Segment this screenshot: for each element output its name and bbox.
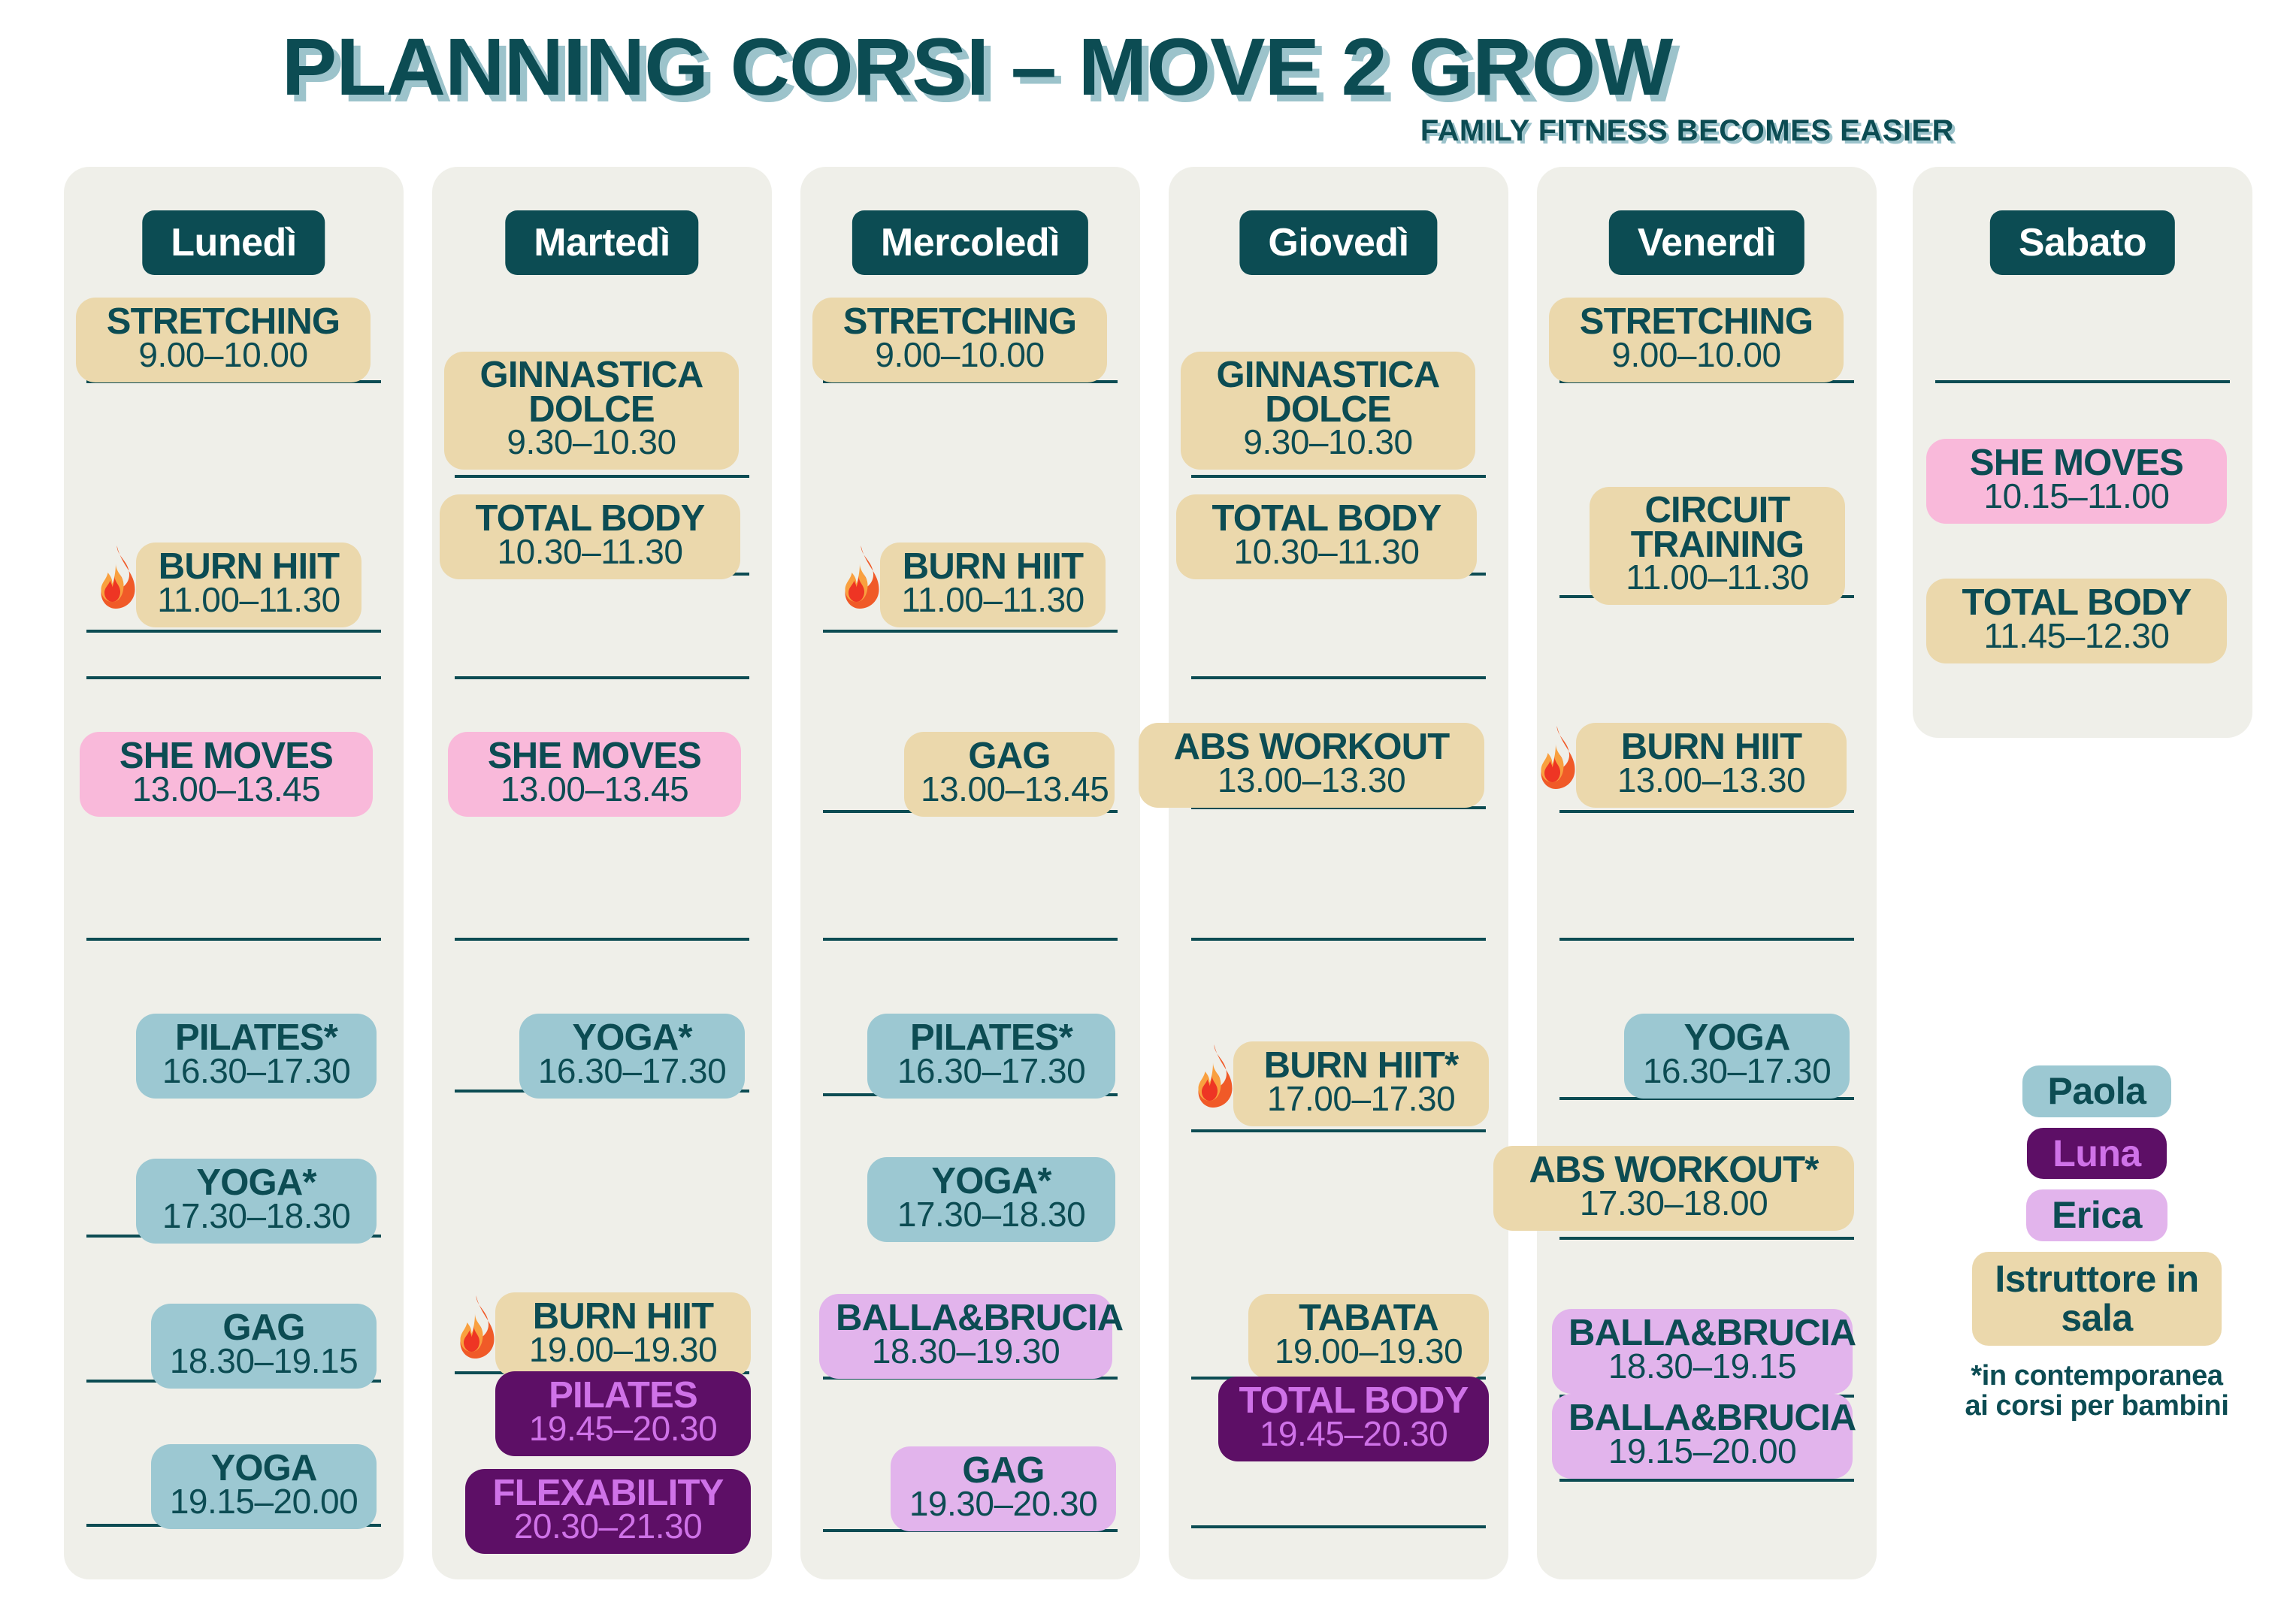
class-time: 13.00–13.45 [464,772,724,806]
class-name: CIRCUITTRAINING [1606,493,1829,562]
class-name: YOGA [168,1450,360,1486]
class-name: TOTAL BODY [1193,500,1460,536]
class-card[interactable]: STRETCHING9.00–10.00 [812,298,1107,382]
time-divider [1559,938,1854,941]
class-card[interactable]: PILATES19.45–20.30 [495,1371,751,1456]
class-name: GINNASTICADOLCE [461,358,722,427]
day-header-4[interactable]: Venerdì [1609,210,1804,275]
class-card[interactable]: SHE MOVES10.15–11.00 [1926,439,2227,524]
class-card[interactable]: STRETCHING9.00–10.00 [76,298,371,382]
class-name: YOGA* [153,1165,360,1201]
class-card[interactable]: TOTAL BODY11.45–12.30 [1926,579,2227,663]
flame-icon [1190,1044,1236,1108]
class-time: 17.30–18.00 [1510,1186,1838,1220]
class-time: 11.00–11.30 [1606,561,1829,594]
class-name: STRETCHING [92,304,354,340]
class-time: 17.30–18.30 [153,1199,360,1233]
flame-icon [92,546,139,609]
class-time: 10.15–11.00 [1943,479,2210,513]
class-card[interactable]: PILATES*16.30–17.30 [136,1014,377,1099]
day-header-0[interactable]: Lunedì [142,210,325,275]
class-name: SHE MOVES [464,738,724,774]
class-name: PILATES* [884,1020,1099,1056]
class-card[interactable]: BURN HIIT19.00–19.30 [495,1292,751,1377]
class-time: 10.30–11.30 [456,535,724,569]
class-card[interactable]: TOTAL BODY10.30–11.30 [1176,494,1477,579]
class-card[interactable]: ABS WORKOUT13.00–13.30 [1139,723,1484,808]
class-time: 19.15–20.00 [1568,1434,1836,1468]
legend-instructor-erica[interactable]: Erica [2026,1189,2167,1241]
day-header-3[interactable]: Giovedì [1239,210,1437,275]
time-divider [1191,1525,1486,1528]
class-name: BURN HIIT [1593,729,1830,765]
class-name: BALLA&BRUCIA [836,1300,1096,1336]
class-name: TABATA [1265,1300,1472,1336]
class-name: BALLA&BRUCIA [1568,1400,1836,1436]
class-card[interactable]: STRETCHING9.00–10.00 [1549,298,1844,382]
class-time: 11.45–12.30 [1943,619,2210,653]
time-divider [1559,810,1854,813]
class-name: ABS WORKOUT [1155,729,1468,765]
class-time: 9.00–10.00 [1565,338,1827,372]
class-time: 18.30–19.15 [1568,1349,1836,1383]
day-header-5[interactable]: Sabato [1990,210,2175,275]
class-card[interactable]: BURN HIIT13.00–13.30 [1576,723,1847,808]
class-name: TOTAL BODY [1235,1383,1472,1419]
class-time: 16.30–17.30 [153,1054,360,1088]
time-divider [823,938,1118,941]
class-card[interactable]: ABS WORKOUT*17.30–18.00 [1493,1146,1854,1231]
time-divider [86,676,381,679]
class-card[interactable]: GAG19.30–20.30 [891,1446,1116,1531]
time-divider [1191,1129,1486,1132]
class-card[interactable]: TOTAL BODY19.45–20.30 [1218,1377,1489,1461]
class-time: 20.30–21.30 [482,1510,734,1543]
class-time: 19.45–20.30 [512,1412,734,1446]
class-card[interactable]: GINNASTICADOLCE9.30–10.30 [444,352,739,470]
time-divider [86,630,381,633]
class-name: STRETCHING [829,304,1091,340]
class-time: 16.30–17.30 [536,1054,728,1088]
class-time: 13.00–13.30 [1593,763,1830,797]
flame-icon [836,546,883,609]
class-card[interactable]: YOGA*17.30–18.30 [136,1159,377,1244]
legend-room-instructor-line2: sala [2061,1297,2132,1339]
class-name: STRETCHING [1565,304,1827,340]
class-time: 19.15–20.00 [168,1485,360,1519]
legend-footnote-line1: *in contemporanea [1971,1360,2222,1392]
class-time: 16.30–17.30 [884,1054,1099,1088]
class-card[interactable]: PILATES*16.30–17.30 [867,1014,1115,1099]
class-name: GAG [907,1452,1100,1489]
class-name: YOGA [1641,1020,1833,1056]
class-name: SHE MOVES [96,738,356,774]
flame-icon [452,1295,498,1359]
class-card[interactable]: BURN HIIT*17.00–17.30 [1233,1041,1489,1126]
legend: Paola Luna Erica Istruttore insala *in c… [1920,1065,2273,1421]
class-card[interactable]: CIRCUITTRAINING11.00–11.30 [1590,487,1845,605]
class-card[interactable]: BALLA&BRUCIA18.30–19.15 [1552,1309,1853,1394]
time-divider [86,938,381,941]
class-time: 9.00–10.00 [829,338,1091,372]
time-divider [1191,676,1486,679]
class-time: 19.00–19.30 [512,1333,734,1367]
class-name: YOGA* [536,1020,728,1056]
class-time: 10.30–11.30 [1193,535,1460,569]
class-name: FLEXABILITY [482,1475,734,1511]
class-card[interactable]: YOGA*16.30–17.30 [519,1014,745,1099]
class-card[interactable]: YOGA19.15–20.00 [151,1444,377,1529]
time-divider [1559,1237,1854,1240]
flame-icon [1532,726,1579,789]
class-time: 19.45–20.30 [1235,1417,1472,1451]
legend-room-instructor-line1: Istruttore in [1995,1258,2198,1300]
legend-room-instructor[interactable]: Istruttore insala [1972,1252,2221,1346]
class-name: TOTAL BODY [456,500,724,536]
class-name: GAG [921,738,1098,774]
legend-footnote-line2: ai corsi per bambini [1965,1390,2229,1422]
class-card[interactable]: BALLA&BRUCIA18.30–19.30 [819,1294,1112,1379]
class-name: PILATES [512,1377,734,1413]
class-time: 13.00–13.30 [1155,763,1468,797]
class-time: 19.30–20.30 [907,1487,1100,1521]
class-time: 13.00–13.45 [921,772,1098,806]
class-time: 9.00–10.00 [92,338,354,372]
class-card[interactable]: GAG13.00–13.45 [904,732,1115,817]
class-name: BURN HIIT [897,549,1089,585]
class-card[interactable]: SHE MOVES13.00–13.45 [448,732,741,817]
class-name: BALLA&BRUCIA [1568,1315,1836,1351]
class-time: 9.30–10.30 [461,425,722,459]
day-header-1[interactable]: Martedì [505,210,698,275]
class-name: PILATES* [153,1020,360,1056]
class-name: YOGA* [884,1163,1099,1199]
class-time: 17.00–17.30 [1250,1082,1472,1116]
class-name: SHE MOVES [1943,445,2210,481]
class-card[interactable]: BALLA&BRUCIA19.15–20.00 [1552,1394,1853,1479]
class-name: BURN HIIT* [1250,1047,1472,1084]
class-name: ABS WORKOUT* [1510,1152,1838,1188]
page-subtitle: FAMILY FITNESS BECOMES EASIER [1420,114,1954,148]
class-card[interactable]: BURN HIIT11.00–11.30 [880,543,1106,627]
class-name: GAG [168,1310,360,1346]
page-title: PLANNING CORSI – MOVE 2 GROW [0,26,1974,108]
class-name: BURN HIIT [512,1298,734,1334]
legend-instructor-luna[interactable]: Luna [2027,1128,2166,1180]
class-card[interactable]: YOGA16.30–17.30 [1624,1014,1850,1099]
class-name: GINNASTICADOLCE [1197,358,1459,427]
time-divider [1559,1479,1854,1482]
time-divider [823,630,1118,633]
class-card[interactable]: GAG18.30–19.15 [151,1304,377,1389]
poster-header: PLANNING CORSI – MOVE 2 GROW FAMILY FITN… [0,26,1954,108]
class-time: 18.30–19.30 [836,1334,1096,1368]
time-divider [455,475,749,478]
class-time: 9.30–10.30 [1197,425,1459,459]
time-divider [1191,938,1486,941]
class-card[interactable]: GINNASTICADOLCE9.30–10.30 [1181,352,1475,470]
time-divider [1935,380,2230,383]
class-time: 19.00–19.30 [1265,1334,1472,1368]
legend-instructor-paola[interactable]: Paola [2022,1065,2172,1117]
class-name: BURN HIIT [153,549,345,585]
time-divider [455,676,749,679]
class-time: 16.30–17.30 [1641,1054,1833,1088]
class-card[interactable]: SHE MOVES13.00–13.45 [80,732,373,817]
class-card[interactable]: TOTAL BODY10.30–11.30 [440,494,740,579]
day-header-2[interactable]: Mercoledì [852,210,1088,275]
time-divider [455,938,749,941]
class-card[interactable]: BURN HIIT11.00–11.30 [136,543,361,627]
class-time: 17.30–18.30 [884,1198,1099,1232]
class-card[interactable]: TABATA19.00–19.30 [1248,1294,1489,1379]
class-card[interactable]: YOGA*17.30–18.30 [867,1157,1115,1242]
time-divider [1191,475,1486,478]
class-time: 13.00–13.45 [96,772,356,806]
class-time: 18.30–19.15 [168,1344,360,1378]
class-card[interactable]: FLEXABILITY20.30–21.30 [465,1469,751,1554]
legend-footnote: *in contemporanea ai corsi per bambini [1920,1361,2273,1422]
class-name: TOTAL BODY [1943,585,2210,621]
class-time: 11.00–11.30 [153,583,345,617]
class-time: 11.00–11.30 [897,583,1089,617]
